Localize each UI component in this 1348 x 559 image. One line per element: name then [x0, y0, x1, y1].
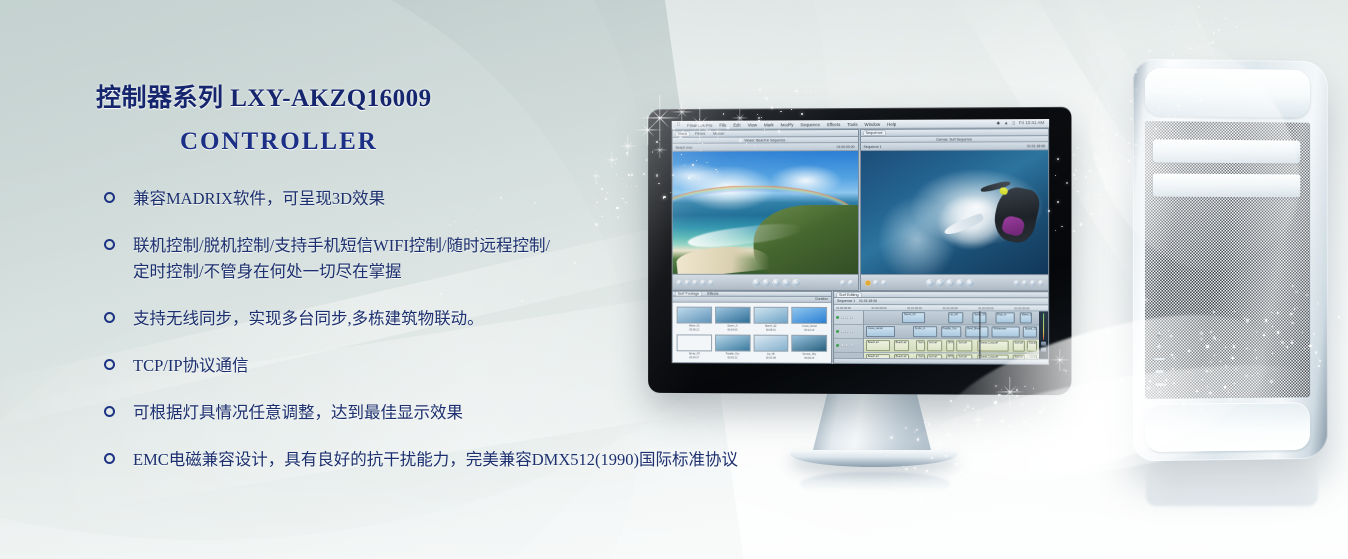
canvas-clip-name: Sequence 1: [863, 144, 881, 148]
feature-text: 兼容MADRIX软件，可呈现3D效果: [133, 186, 385, 212]
sparkle-dust: [1030, 459, 1032, 461]
sparkle-dust: [972, 470, 975, 473]
sparkle-dust: [1117, 192, 1119, 194]
sparkle-star-flare: [1075, 391, 1089, 405]
record-button[interactable]: [872, 280, 878, 286]
bullet-circle-icon: [104, 239, 115, 250]
sparkle-dust: [1012, 432, 1013, 433]
timeline-clip[interactable]: Ocean_Loop.aif: [977, 340, 1009, 351]
sparkle-dust: [964, 487, 966, 489]
sparkle-dust: [1090, 418, 1093, 421]
sparkle-dust: [1128, 379, 1129, 380]
feature-list: 兼容MADRIX软件，可呈现3D效果 联机控制/脱机控制/支持手机短信WIFI控…: [96, 186, 856, 473]
sparkle-dust: [1072, 429, 1074, 431]
sparkle-dust: [1122, 437, 1124, 439]
sparkle-dust: [1124, 139, 1125, 140]
bullet-circle-icon: [104, 406, 115, 417]
sparkle-dust: [1121, 159, 1122, 160]
timeline-clip[interactable]: Surf.aif: [927, 354, 943, 358]
previous-edit-button[interactable]: [926, 279, 934, 287]
sparkle-dust: [1212, 41, 1214, 43]
sparkle-dust: [1121, 391, 1123, 393]
next-edit-button[interactable]: [966, 279, 974, 287]
sparkle-dust: [1042, 438, 1043, 439]
sparkle-dust: [1040, 460, 1041, 461]
sparkle-dust: [1338, 316, 1340, 318]
sparkle-dust: [1100, 169, 1102, 171]
sparkle-dust: [962, 424, 963, 425]
flare-diagonal: [937, 441, 944, 448]
flare-diagonal: [1079, 395, 1086, 402]
sparkle-dust: [975, 459, 977, 461]
sparkle-dust: [1009, 425, 1011, 427]
optical-drive-bay-1[interactable]: [1153, 139, 1300, 163]
sparkle-dust: [1130, 100, 1131, 101]
timeline-track-V2[interactable]: Barrel_02Lip_HitSpray_03Drop_InWave_01: [864, 311, 1039, 326]
timeline-clip[interactable]: Reef_Break: [965, 326, 988, 337]
sparkle-dust: [955, 422, 957, 424]
sparkle-dust: [972, 408, 974, 410]
feature-text: 可根据灯具情况任意调整，达到最佳显示效果: [133, 400, 463, 426]
sparkle-dust: [1116, 399, 1118, 401]
sparkle-dust: [1023, 421, 1026, 424]
timeline-clip[interactable]: Surf.aif: [956, 354, 972, 358]
sparkle-dust: [1103, 142, 1104, 143]
sparkle-dust: [1091, 399, 1092, 400]
feature-text: TCP/IP协议通信: [133, 353, 249, 379]
list-item: 支持无线同步，实现多台同步,多栋建筑物联动。: [96, 306, 856, 332]
canvas-transport-controls[interactable]: [860, 274, 1048, 290]
sparkle-star-flare: [933, 437, 947, 451]
sparkle-dust: [905, 468, 908, 471]
sparkle-dust: [1030, 424, 1033, 427]
sparkle-dust: [1123, 398, 1124, 399]
sparkle-dust: [1042, 407, 1045, 410]
sparkle-dust: [1027, 423, 1029, 425]
sparkle-dust: [958, 473, 961, 476]
sparkle-dust: [1103, 419, 1104, 420]
menu-item-window[interactable]: Window: [865, 121, 881, 126]
sparkle-dust: [1083, 433, 1085, 435]
bullet-circle-icon: [104, 192, 115, 203]
sparkle-dust: [1078, 433, 1081, 436]
flare-diagonal: [974, 416, 983, 425]
sparkle-dust: [983, 444, 984, 445]
bullet-circle-icon: [104, 453, 115, 464]
zoom-popup-button[interactable]: [1014, 280, 1020, 286]
sparkle-dust: [1098, 382, 1100, 384]
tab-sequence[interactable]: Sequence: [863, 131, 884, 135]
timeline-clip[interactable]: SFX.aif: [946, 354, 955, 358]
sparkle-dust: [1111, 451, 1113, 453]
sparkle-dust: [987, 476, 989, 478]
tower-top-panel: [1145, 68, 1310, 118]
sparkle-dust: [947, 433, 950, 436]
timeline-clip[interactable]: Surf.aif: [916, 354, 925, 358]
sparkle-dust: [976, 481, 978, 483]
sparkle-dust: [1078, 397, 1079, 398]
sparkle-dust: [1209, 9, 1210, 10]
sparkle-dust: [1094, 422, 1095, 423]
timeline-clip[interactable]: Beach.aif: [866, 340, 890, 351]
sparkle-dust: [1120, 379, 1123, 382]
sparkle-dust: [1213, 32, 1215, 34]
sparkle-dust: [964, 409, 966, 411]
timeline-clip[interactable]: Out.aif: [1027, 355, 1038, 359]
product-headline: 控制器系列 LXY-AKZQ16009: [96, 78, 856, 114]
canvas-pane: Sequence Canvas: Surf Sequence Sequence …: [859, 128, 1049, 291]
ruler-tick-label: 01:01:00:00: [907, 306, 922, 310]
feature-text: 支持无线同步，实现多台同步,多栋建筑物联动。: [133, 306, 484, 332]
sparkle-dust: [1062, 434, 1064, 436]
sparkle-dust: [1109, 412, 1111, 414]
bullet-circle-icon: [104, 312, 115, 323]
ruler-tick-label: 01:02:30:00: [1014, 306, 1029, 310]
sparkle-dust: [1060, 443, 1061, 444]
sparkle-dust: [1097, 194, 1098, 195]
sparkle-dust: [977, 425, 978, 426]
sparkle-dust: [1093, 407, 1095, 409]
sparkle-dust: [1066, 411, 1067, 412]
sparkle-dust: [1016, 395, 1018, 397]
sparkle-dust: [1128, 160, 1130, 162]
canvas-left-buttons[interactable]: [864, 280, 886, 286]
usb-port-2-icon[interactable]: [1155, 383, 1164, 387]
sparkle-dust: [1197, 1, 1198, 2]
surfer-wave-image: [860, 150, 1048, 274]
battery-icon[interactable]: ▯: [1012, 120, 1014, 126]
tower-reflection: [1146, 462, 1318, 506]
sparkle-dust: [1149, 50, 1150, 51]
sparkle-dust: [1050, 445, 1051, 446]
front-port-cluster[interactable]: ✦: [1149, 330, 1169, 388]
sparkle-dust: [1021, 403, 1024, 406]
timeline-scrollbar[interactable]: [834, 358, 1048, 364]
sparkle-dust: [1069, 404, 1071, 406]
sparkle-dust: [1075, 178, 1077, 180]
timeline-clip[interactable]: Board_Close: [1023, 326, 1037, 337]
sparkle-dust: [1115, 375, 1117, 377]
sparkle-dust: [1042, 470, 1044, 472]
sparkle-dust: [1023, 420, 1025, 422]
timeline-track-A2[interactable]: Beach.aifBeach.aifSurf.aifSurf.aifSFX.ai…: [864, 353, 1039, 359]
sparkle-dust: [955, 418, 956, 419]
sparkle-dust: [994, 401, 997, 404]
clock-label[interactable]: Fri 10:41 AM: [1019, 120, 1044, 126]
timeline-clip[interactable]: Barrel_02: [902, 312, 925, 323]
sparkle-dust: [1105, 202, 1107, 204]
sparkle-dust: [1091, 141, 1092, 142]
timeline-tracks[interactable]: Barrel_02Lip_HitSpray_03Drop_InWave_01Co…: [864, 311, 1039, 359]
sparkle-dust: [966, 490, 967, 491]
sparkle-dust: [1101, 128, 1103, 130]
sparkle-dust: [1220, 52, 1222, 54]
timeline-clip[interactable]: Whitewater: [992, 326, 1020, 337]
timeline-pane: Surf Editing Sequence 1 01:01:18:06 01:0…: [833, 291, 1049, 365]
timeline-clip[interactable]: Lip_Hit: [948, 312, 964, 323]
play-around-button[interactable]: [956, 279, 964, 287]
wifi-icon[interactable]: ▲: [1004, 120, 1008, 126]
sparkle-star-flare: [1098, 322, 1118, 342]
sparkle-dust: [924, 422, 925, 423]
sparkle-dust: [1097, 157, 1099, 159]
sparkle-dust: [1106, 186, 1108, 188]
sparkle-dust: [1077, 392, 1079, 394]
sparkle-dust: [992, 454, 994, 456]
flare-diagonal: [1079, 395, 1086, 402]
timeline-clip[interactable]: Beach.aif: [894, 354, 910, 359]
sparkle-dust: [1170, 31, 1172, 33]
sparkle-star-flare: [969, 411, 987, 429]
sparkle-dust: [1097, 376, 1099, 378]
sparkle-dust: [960, 472, 962, 474]
sparkle-dust: [1189, 48, 1190, 49]
render-status-button[interactable]: [1038, 280, 1044, 286]
sparkle-dust: [1016, 430, 1018, 432]
sparkle-dust: [988, 461, 991, 464]
sparkle-dust: [1106, 398, 1108, 400]
timeline-clip[interactable]: SFX.aif: [946, 340, 955, 351]
sparkle-dust: [1001, 420, 1003, 422]
sparkle-dust: [1041, 398, 1043, 400]
usb-port-1-icon[interactable]: [1154, 357, 1165, 360]
sparkle-dust: [1130, 118, 1132, 120]
sparkle-dust: [1172, 54, 1174, 56]
menubar-status-area[interactable]: ◆ ▲ ▯ Fri 10:41 AM: [996, 120, 1044, 126]
sparkle-dust: [1111, 145, 1112, 146]
timeline-clip[interactable]: Surf.aif: [1013, 355, 1025, 359]
sparkle-dust: [970, 439, 972, 441]
timeline-clip[interactable]: Surf.aif: [956, 340, 972, 351]
sparkle-dust: [951, 476, 952, 477]
sparkle-dust: [1199, 25, 1201, 27]
sparkle-dust: [1196, 38, 1198, 40]
sparkle-dust: [1218, 29, 1220, 31]
flare-diagonal: [1103, 327, 1113, 337]
sparkle-dust: [1109, 110, 1110, 111]
timeline-track-V1[interactable]: Coast_AerialSurfer_APaddle_OutReef_Break…: [864, 325, 1039, 340]
sparkle-dust: [947, 466, 948, 467]
canvas-video-area[interactable]: [860, 150, 1048, 274]
timeline-playhead[interactable]: [979, 311, 980, 358]
flare-diagonal: [974, 416, 983, 425]
sparkle-dust: [1199, 24, 1200, 25]
sparkle-dust: [1060, 412, 1063, 415]
timeline-clip[interactable]: Surfer_A: [913, 326, 937, 337]
flare-diagonal: [937, 441, 944, 448]
sparkle-dust: [1088, 396, 1089, 397]
sparkle-dust: [1100, 171, 1101, 172]
sparkle-dust: [994, 466, 996, 468]
sparkle-dust: [951, 484, 952, 485]
sparkle-dust: [977, 434, 979, 436]
list-item: 联机控制/脱机控制/支持手机短信WIFI控制/随时远程控制/ 定时控制/不管身在…: [96, 233, 856, 285]
sparkle-dust: [1077, 191, 1079, 193]
firewire-port-icon[interactable]: [1155, 370, 1164, 374]
sparkle-dust: [937, 447, 939, 449]
headphone-jack-icon[interactable]: [1157, 344, 1161, 348]
sparkle-dust: [920, 500, 923, 503]
sparkle-dust: [1109, 116, 1111, 118]
desktop-tower: ✦: [1133, 59, 1328, 462]
sparkle-dust: [1205, 21, 1206, 22]
list-item: TCP/IP协议通信: [96, 353, 856, 379]
sparkle-dust: [1088, 373, 1089, 374]
sparkle-dust: [1197, 47, 1198, 48]
sparkle-dust: [1121, 155, 1123, 157]
sparkle-dust: [984, 431, 985, 432]
sparkle-dust: [950, 437, 951, 438]
ruler-tick-label: 01:02:00:00: [979, 306, 994, 310]
sparkle-dust: [1077, 147, 1079, 149]
product-subheadline: CONTROLLER: [96, 128, 856, 156]
sparkle-dust: [1000, 455, 1001, 456]
sparkle-dust: [987, 452, 988, 453]
sparkle-dust: [948, 441, 949, 442]
sparkle-dust: [1121, 412, 1122, 413]
sparkle-dust: [1080, 223, 1082, 225]
tower-mesh-panel: ✦: [1145, 121, 1310, 399]
sparkle-dust: [1091, 213, 1092, 214]
sparkle-dust: [1116, 134, 1118, 136]
optical-drive-bay-2[interactable]: [1153, 174, 1300, 198]
ruler-tick-label: 01:00:30:00: [872, 306, 887, 310]
sparkle-dust: [1113, 401, 1115, 403]
sparkle-dust: [1088, 430, 1090, 432]
sparkle-dust: [1039, 411, 1042, 414]
list-item: 兼容MADRIX软件，可呈现3D效果: [96, 186, 856, 212]
sparkle-dust: [1032, 443, 1034, 445]
canvas-right-buttons[interactable]: [1014, 280, 1044, 286]
timeline-clip[interactable]: Wave_01: [1020, 312, 1032, 323]
sparkle-dust: [1085, 197, 1087, 199]
product-banner: 控制器系列 LXY-AKZQ16009 CONTROLLER 兼容MADRIX软…: [0, 0, 1348, 559]
sparkle-dust: [952, 476, 953, 477]
sparkle-dust: [967, 405, 970, 408]
audio-meter-left: [1043, 313, 1045, 339]
timeline-clip[interactable]: Ocean_Loop.aif: [977, 354, 1009, 358]
tower-bottom-panel: [1145, 402, 1310, 452]
marketing-copy: 控制器系列 LXY-AKZQ16009 CONTROLLER 兼容MADRIX软…: [96, 78, 856, 494]
sparkle-dust: [1116, 165, 1117, 166]
sparkle-dust: [1076, 374, 1077, 375]
sparkle-dust: [1230, 47, 1231, 48]
bluetooth-icon[interactable]: ◆: [996, 120, 999, 126]
sparkle-dust: [1202, 44, 1204, 46]
list-item: 可根据灯具情况任意调整，达到最佳显示效果: [96, 400, 856, 426]
sparkle-dust: [1090, 421, 1092, 423]
view-popup-button[interactable]: [1022, 280, 1028, 286]
sparkle-dust: [1012, 461, 1014, 463]
sparkle-dust: [899, 498, 900, 499]
ruler-tick-label: 01:01:30:00: [943, 306, 958, 310]
sparkle-dust: [984, 485, 985, 486]
feature-text: EMC电磁兼容设计，具有良好的抗干扰能力，完美兼容DMX512(1990)国际标…: [133, 447, 738, 473]
sparkle-dust: [1212, 21, 1214, 23]
sparkle-dust: [1107, 188, 1108, 189]
timeline-clip[interactable]: Out.aif: [1027, 341, 1038, 352]
timeline-clip[interactable]: Coast_Aerial: [866, 326, 896, 337]
timeline-clip[interactable]: Beach.aif: [894, 340, 910, 351]
sparkle-dust: [1064, 400, 1066, 402]
sparkle-dust: [1073, 174, 1075, 176]
sparkle-dust: [1100, 393, 1102, 395]
overwrite-button[interactable]: [880, 280, 886, 286]
sparkle-dust: [1095, 157, 1097, 159]
sparkle-dust: [1085, 176, 1087, 178]
play-button[interactable]: [946, 279, 954, 287]
timeline-track-A1[interactable]: Beach.aifBeach.aifSurf.aifSurf.aifSFX.ai…: [864, 339, 1039, 354]
timeline-timecode[interactable]: 01:01:18:06: [859, 299, 877, 303]
sparkle-dust: [1027, 432, 1028, 433]
feature-text: 联机控制/脱机控制/支持手机短信WIFI控制/随时远程控制/ 定时控制/不管身在…: [133, 233, 550, 285]
sparkle-dust: [1006, 443, 1007, 444]
sparkle-dust: [1075, 169, 1077, 171]
flare-diagonal: [1103, 327, 1113, 337]
bullet-circle-icon: [104, 359, 115, 370]
sparkle-dust: [1197, 21, 1198, 22]
list-item: EMC电磁兼容设计，具有良好的抗干扰能力，完美兼容DMX512(1990)国际标…: [96, 447, 856, 473]
timeline-body: Barrel_02Lip_HitSpray_03Drop_InWave_01Co…: [834, 311, 1048, 359]
canvas-timecode[interactable]: 01:01:18:06: [1027, 144, 1045, 148]
sparkle-dust: [1128, 142, 1130, 144]
sparkle-dust: [984, 459, 986, 461]
sparkle-dust: [1225, 18, 1226, 19]
timeline-clip[interactable]: Drop_In: [995, 312, 1014, 323]
sparkle-dust: [1030, 467, 1031, 468]
sparkle-dust: [1101, 440, 1103, 442]
firewire-icon: ✦: [1155, 332, 1163, 340]
timeline-clip[interactable]: Surf.aif: [916, 340, 925, 351]
meter-toggle-button[interactable]: [1041, 342, 1046, 346]
menu-item-help[interactable]: Help: [887, 121, 896, 126]
play-in-to-out-button[interactable]: [936, 279, 944, 287]
canvas-playback-buttons[interactable]: [926, 279, 974, 287]
timeline-clip[interactable]: Surf.aif: [1013, 340, 1025, 351]
sparkle-dust: [938, 501, 940, 503]
sparkle-dust: [909, 498, 910, 499]
timeline-clip[interactable]: Paddle_Out: [941, 326, 962, 337]
timecode-overlay-button[interactable]: [1030, 280, 1036, 286]
sparkle-dust: [1209, 43, 1210, 44]
sparkle-dust: [1073, 154, 1075, 156]
meter-settings-button[interactable]: [1041, 348, 1046, 352]
sparkle-dust: [950, 400, 952, 402]
sparkle-dust: [1198, 6, 1200, 8]
sparkle-dust: [1073, 230, 1075, 232]
sparkle-dust: [1084, 160, 1086, 162]
timeline-audio-meters[interactable]: [1039, 311, 1048, 358]
sparkle-dust: [955, 463, 957, 465]
sparkle-dust: [1088, 194, 1090, 196]
sparkle-dust: [1112, 115, 1113, 116]
sparkle-dust: [1031, 408, 1032, 409]
sparkle-dust: [1086, 186, 1088, 188]
sparkle-dust: [1089, 170, 1091, 172]
sparkle-dust: [928, 423, 930, 425]
sparkle-dust: [1236, 26, 1238, 28]
timeline-clip[interactable]: Surf.aif: [927, 340, 943, 351]
insert-indicator: [864, 280, 870, 286]
sparkle-dust: [914, 467, 915, 468]
sparkle-dust: [926, 470, 928, 472]
sparkle-dust: [1042, 438, 1045, 441]
